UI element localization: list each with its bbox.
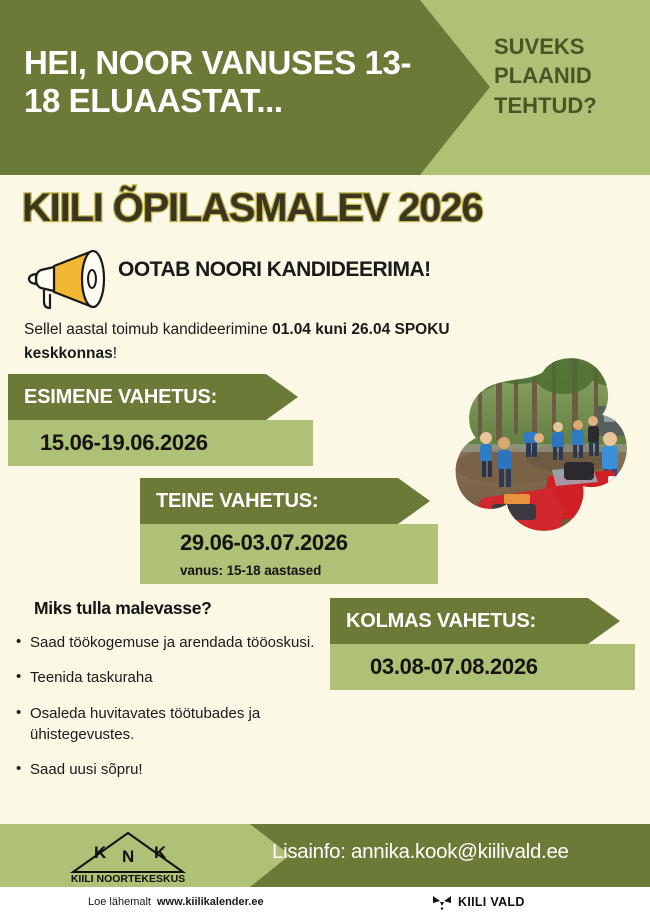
intro-paragraph: Sellel aastal toimub kandideerimine 01.0… [24, 318, 464, 366]
activity-photo [452, 358, 634, 534]
megaphone-icon [24, 246, 120, 312]
header-headline: HEI, NOOR VANUSES 13-18 ELUAASTAT... [24, 44, 424, 121]
page-title: KIILI ÕPILASMALEV 2026 [22, 186, 482, 231]
shift-2-body: 29.06-03.07.2026 vanus: 15-18 aastased [140, 524, 438, 584]
shift-2-label: TEINE VAHETUS: [140, 478, 430, 524]
tagline: OOTAB NOORI KANDIDEERIMA! [118, 258, 431, 282]
poster: HEI, NOOR VANUSES 13-18 ELUAASTAT... SUV… [0, 0, 650, 919]
kiili-vald-name: KIILI VALD [458, 895, 525, 909]
list-item: Saad töökogemuse ja arendada tööoskusi. [14, 632, 324, 653]
list-item: Osaleda huvitavates töötubades ja ühiste… [14, 703, 324, 746]
read-more: Loe lähemaltwww.kiilikalender.ee [88, 896, 264, 908]
knk-letter-k-left: K [94, 843, 107, 862]
why-join-title: Miks tulla malevasse? [34, 598, 212, 619]
header-banner: HEI, NOOR VANUSES 13-18 ELUAASTAT... SUV… [0, 0, 650, 175]
contact-email: Lisainfo: annika.kook@kiilivald.ee [272, 840, 569, 864]
read-more-label: Loe lähemalt [88, 896, 151, 908]
shift-2-age-note: vanus: 15-18 aastased [180, 563, 438, 578]
header-subheadline: SUVEKS PLAANID TEHTUD? [494, 32, 639, 120]
shift-3-label: KOLMAS VAHETUS: [330, 598, 620, 644]
intro-text-2: ! [113, 345, 117, 362]
intro-text-1: Sellel aastal toimub kandideerimine [24, 321, 272, 338]
kiili-vald-logo: KIILI VALD [432, 894, 525, 910]
shift-3-body: 03.08-07.08.2026 [330, 644, 635, 690]
knk-letter-k-right: K [154, 843, 167, 862]
read-more-url[interactable]: www.kiilikalender.ee [157, 896, 264, 908]
why-join-list: Saad töökogemuse ja arendada tööoskusi. … [14, 632, 324, 794]
shift-3-date: 03.08-07.08.2026 [370, 654, 635, 680]
knk-caption: KIILI NOORTEKESKUS [71, 873, 185, 884]
shift-1-body: 15.06-19.06.2026 [8, 420, 313, 466]
shift-2-date: 29.06-03.07.2026 [180, 530, 438, 556]
kiili-vald-mark-icon [432, 894, 452, 910]
list-item: Teenida taskuraha [14, 667, 324, 688]
shift-1-date: 15.06-19.06.2026 [40, 430, 313, 456]
kiili-noortekeskus-logo: K N K KIILI NOORTEKESKUS [58, 828, 198, 884]
knk-letter-n: N [122, 847, 134, 866]
list-item: Saad uusi sõpru! [14, 759, 324, 780]
shift-1-label: ESIMENE VAHETUS: [8, 374, 298, 420]
